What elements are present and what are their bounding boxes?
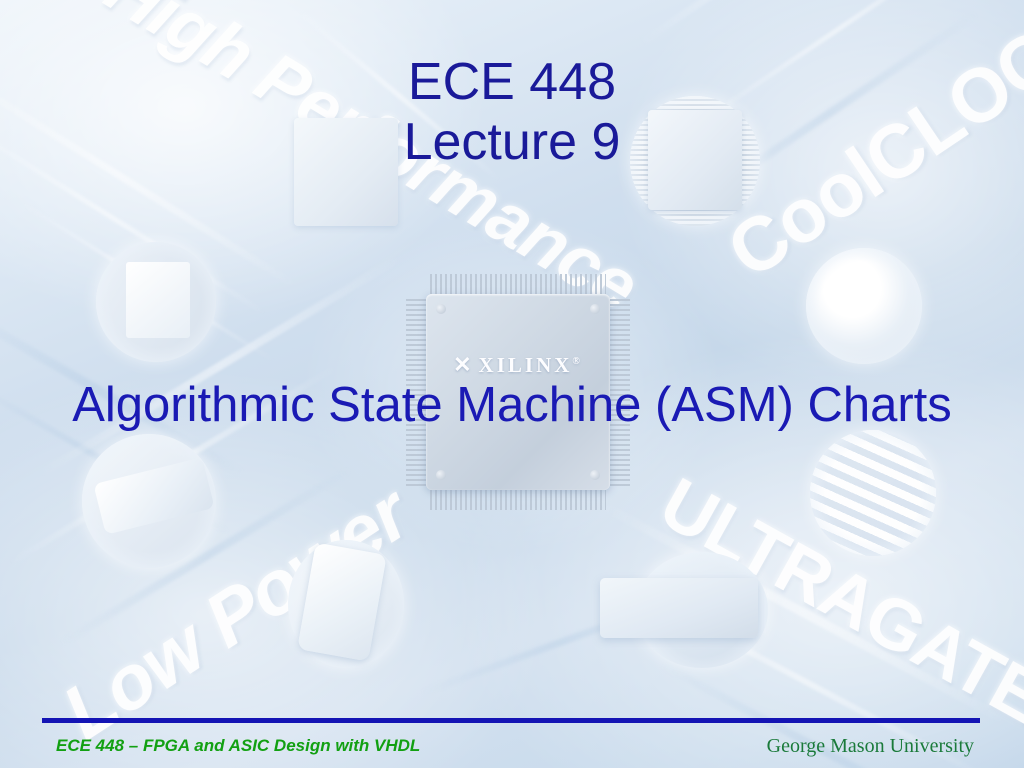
chip-pins-bottom <box>430 490 606 510</box>
keypad-photo <box>810 430 936 556</box>
slide-subtitle: Algorithmic State Machine (ASM) Charts <box>0 377 1024 433</box>
footer-divider <box>42 718 980 723</box>
workstation-object <box>126 262 190 338</box>
disc-drive-object <box>600 578 758 638</box>
presentation-slide: High Performance CoolCLOCK Low Power ULT… <box>0 0 1024 768</box>
slide-title: ECE 448 Lecture 9 <box>0 52 1024 173</box>
slide-title-line2: Lecture 9 <box>0 112 1024 172</box>
chip-pins-top <box>430 274 606 294</box>
footer-course-label: ECE 448 – FPGA and ASIC Design with VHDL <box>56 736 420 756</box>
lab-equipment-photo <box>806 248 922 364</box>
xilinx-logo: ✕XILINX® <box>426 352 610 378</box>
slide-title-line1: ECE 448 <box>0 52 1024 112</box>
xilinx-logo-text: XILINX <box>479 353 573 377</box>
footer-university-label: George Mason University <box>767 735 974 758</box>
xilinx-x-icon: ✕ <box>453 352 474 377</box>
registered-trademark-icon: ® <box>572 356 582 367</box>
